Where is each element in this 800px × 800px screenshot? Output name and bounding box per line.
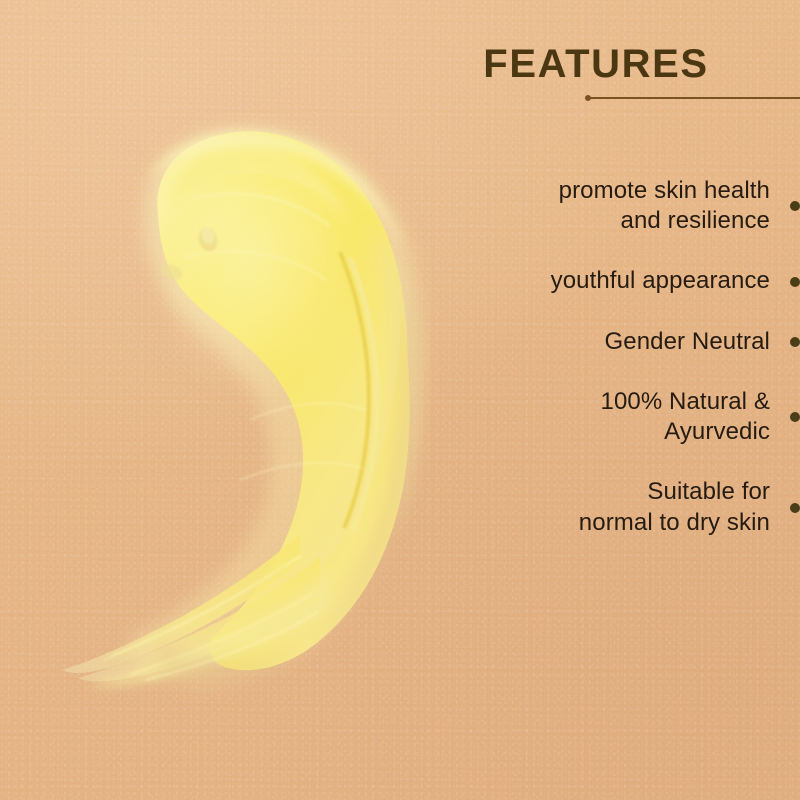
feature-item: 100% Natural & Ayurvedic: [430, 387, 800, 447]
bullet-dot-icon: [790, 201, 800, 211]
divider-line: [589, 97, 800, 99]
feature-item-label: Gender Neutral: [605, 327, 771, 357]
feature-item: Gender Neutral: [430, 327, 800, 357]
bullet-dot-icon: [790, 503, 800, 513]
feature-item-label: 100% Natural & Ayurvedic: [601, 387, 771, 447]
bullet-dot-icon: [790, 337, 800, 347]
feature-item: Suitable for normal to dry skin: [430, 477, 800, 537]
page-title: FEATURES: [430, 44, 762, 84]
feature-item-label: Suitable for normal to dry skin: [579, 477, 770, 537]
feature-item: youthful appearance: [430, 266, 800, 296]
bullet-dot-icon: [790, 412, 800, 422]
bullet-dot-icon: [790, 277, 800, 287]
feature-list: promote skin health and resilience youth…: [430, 176, 800, 568]
feature-graphic: FEATURES promote skin health and resilie…: [0, 0, 800, 800]
feature-item-label: youthful appearance: [551, 266, 770, 296]
features-panel: FEATURES promote skin health and resilie…: [430, 0, 800, 800]
title-divider: [585, 92, 800, 104]
feature-item: promote skin health and resilience: [430, 176, 800, 236]
feature-item-label: promote skin health and resilience: [559, 176, 770, 236]
